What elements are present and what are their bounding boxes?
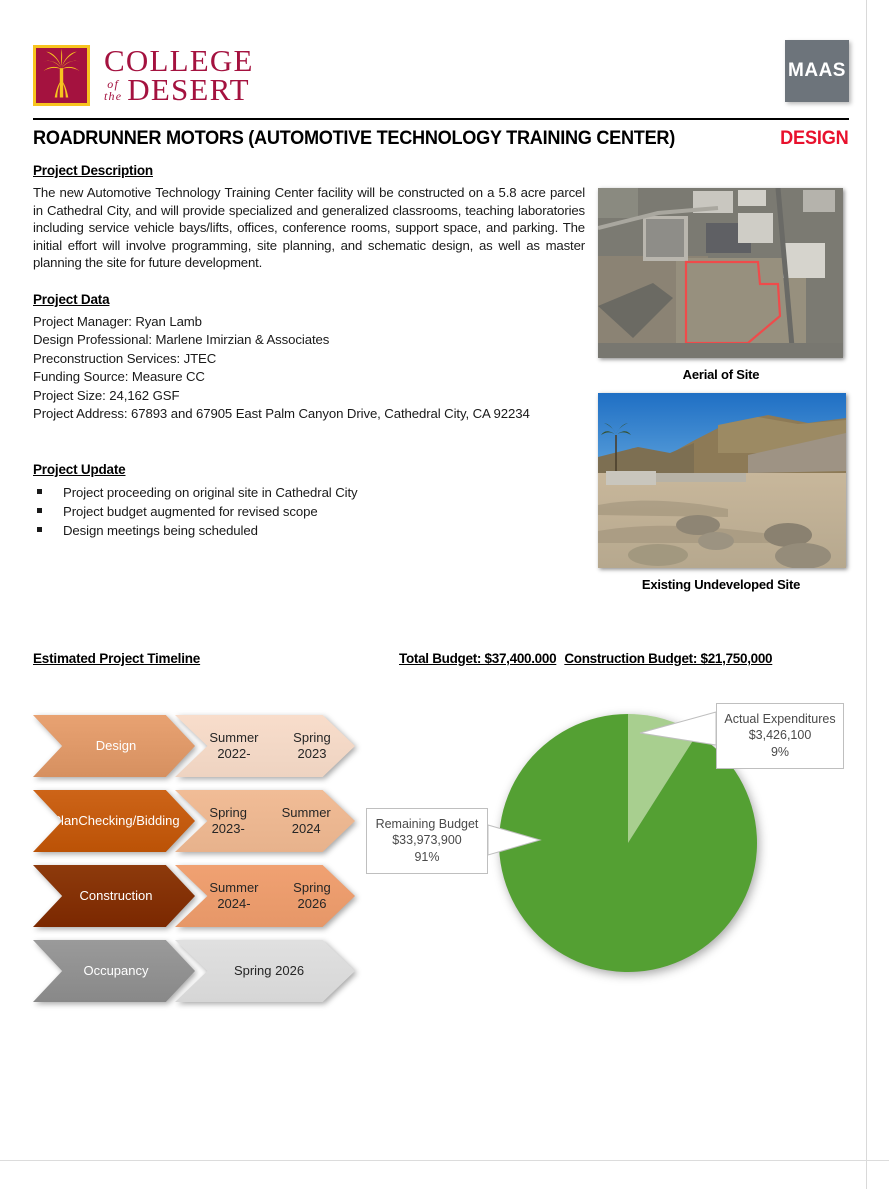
- callout-title: Actual Expenditures: [723, 711, 837, 727]
- callout-actual-expenditures: Actual Expenditures $3,426,100 9%: [716, 703, 844, 769]
- callout-percent: 9%: [723, 744, 837, 760]
- page-footer: 6: [0, 1040, 889, 1130]
- callout-title: Remaining Budget: [373, 816, 481, 832]
- callout-leader-lines: [0, 0, 889, 1189]
- callout-percent: 91%: [373, 849, 481, 865]
- callout-amount: $3,426,100: [723, 727, 837, 743]
- callout-remaining-budget: Remaining Budget $33,973,900 91%: [366, 808, 488, 874]
- report-page: COLLEGE of the DESERT MAAS ROADRUNNER MO…: [0, 0, 889, 1189]
- callout-amount: $33,973,900: [373, 832, 481, 848]
